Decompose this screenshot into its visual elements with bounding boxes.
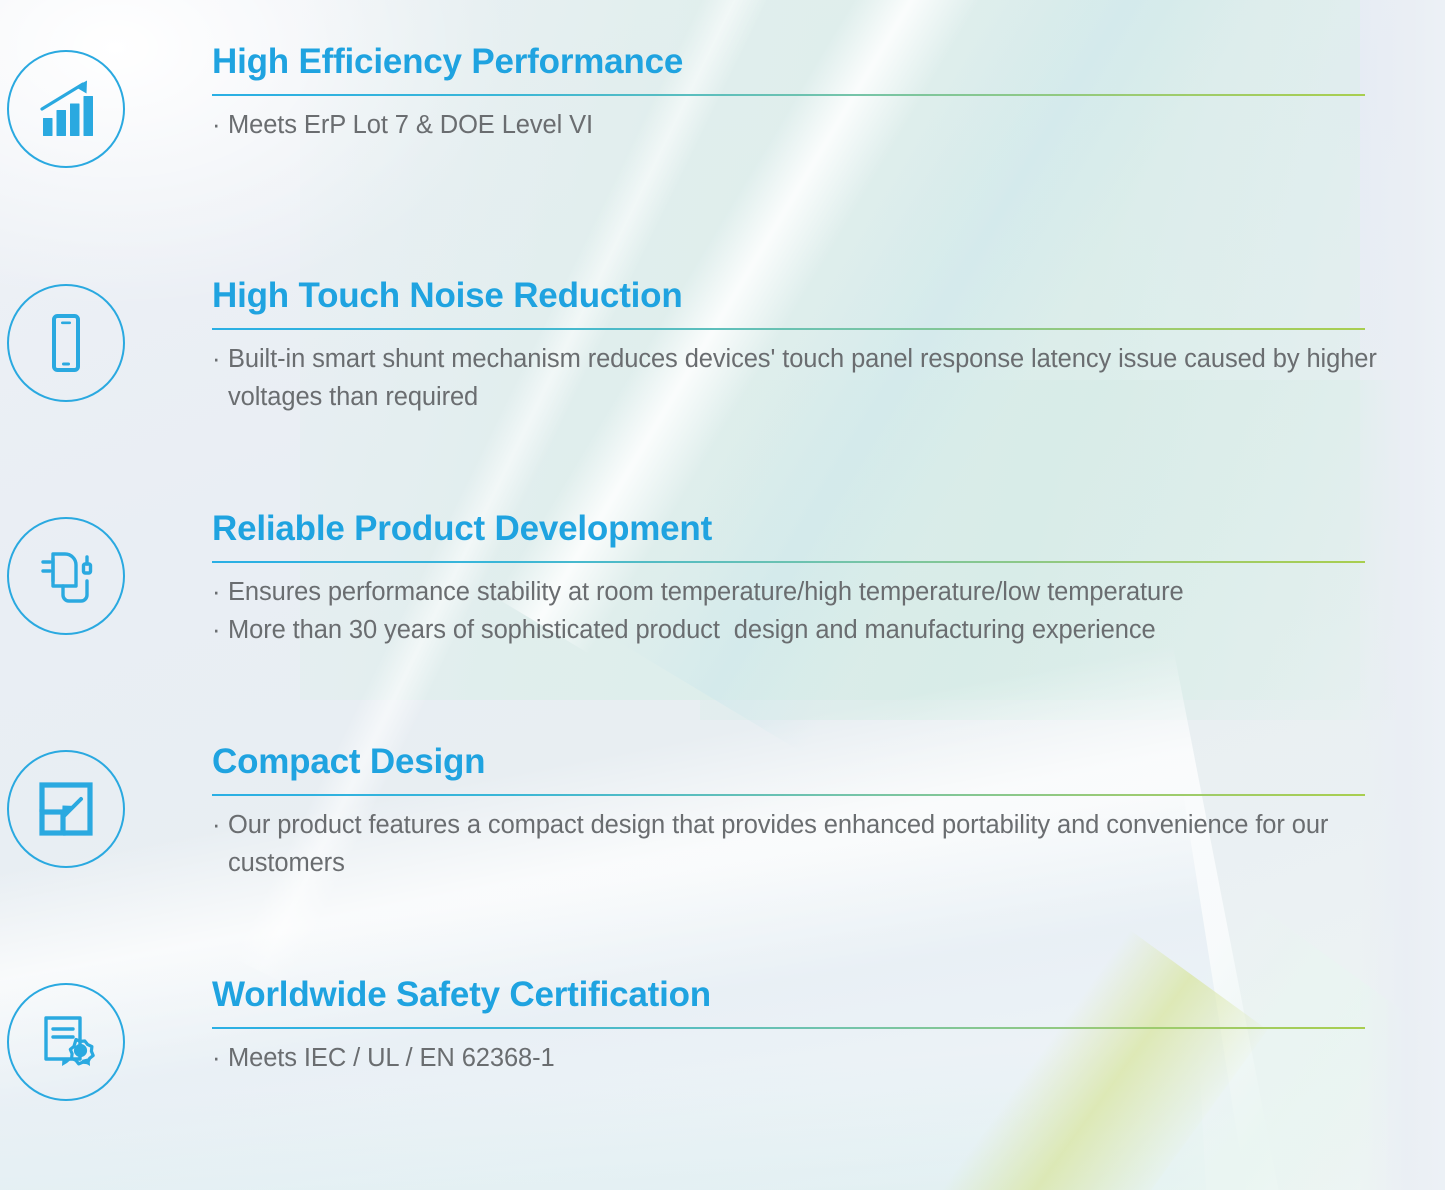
- feature-body: High Efficiency Performance · Meets ErP …: [132, 44, 1445, 145]
- feature-bullets: · Our product features a compact design …: [212, 807, 1445, 882]
- feature-icon-wrap: [0, 511, 132, 635]
- bullet-marker: ·: [212, 341, 228, 379]
- bullet-marker: ·: [212, 807, 228, 845]
- bullet-marker: ·: [212, 574, 228, 612]
- bar-chart-growth-icon: [7, 50, 125, 168]
- bullet-item: · Meets ErP Lot 7 & DOE Level VI: [212, 107, 1445, 145]
- feature-icon-wrap: [0, 44, 132, 168]
- bullet-marker: ·: [212, 107, 228, 145]
- feature-item-reliable-product-development: Reliable Product Development · Ensures p…: [0, 511, 1445, 650]
- bullet-item: · More than 30 years of sophisticated pr…: [212, 612, 1445, 650]
- bullet-text: Built-in smart shunt mechanism reduces d…: [228, 341, 1445, 416]
- bullet-item: · Ensures performance stability at room …: [212, 574, 1445, 612]
- bullet-item: · Built-in smart shunt mechanism reduces…: [212, 341, 1445, 416]
- bullet-marker: ·: [212, 612, 228, 650]
- feature-body: High Touch Noise Reduction · Built-in sm…: [132, 278, 1445, 417]
- feature-body: Reliable Product Development · Ensures p…: [132, 511, 1445, 650]
- bullet-text: Our product features a compact design th…: [228, 807, 1445, 882]
- bullet-item: · Our product features a compact design …: [212, 807, 1445, 882]
- feature-title: High Touch Noise Reduction: [212, 278, 1445, 315]
- feature-highlights-page: High Efficiency Performance · Meets ErP …: [0, 0, 1445, 1190]
- feature-icon-wrap: [0, 278, 132, 402]
- feature-divider: [212, 561, 1365, 564]
- bullet-text: More than 30 years of sophisticated prod…: [228, 612, 1445, 650]
- feature-bullets: · Meets IEC / UL / EN 62368-1: [212, 1040, 1445, 1078]
- bullet-text: Ensures performance stability at room te…: [228, 574, 1445, 612]
- feature-title: Compact Design: [212, 744, 1445, 781]
- bullet-marker: ·: [212, 1040, 228, 1078]
- feature-item-worldwide-safety-certification: Worldwide Safety Certification · Meets I…: [0, 977, 1445, 1101]
- feature-icon-wrap: [0, 744, 132, 868]
- feature-title: Reliable Product Development: [212, 511, 1445, 548]
- feature-icon-wrap: [0, 977, 132, 1101]
- feature-divider: [212, 328, 1365, 331]
- bullet-text: Meets IEC / UL / EN 62368-1: [228, 1040, 1445, 1078]
- feature-bullets: · Built-in smart shunt mechanism reduces…: [212, 341, 1445, 416]
- certificate-award-icon: [7, 983, 125, 1101]
- feature-bullets: · Meets ErP Lot 7 & DOE Level VI: [212, 107, 1445, 145]
- feature-body: Compact Design · Our product features a …: [132, 744, 1445, 883]
- feature-title: Worldwide Safety Certification: [212, 977, 1445, 1014]
- feature-item-high-touch-noise-reduction: High Touch Noise Reduction · Built-in sm…: [0, 278, 1445, 417]
- feature-bullets: · Ensures performance stability at room …: [212, 574, 1445, 649]
- smartphone-icon: [7, 284, 125, 402]
- feature-item-compact-design: Compact Design · Our product features a …: [0, 744, 1445, 883]
- feature-divider: [212, 1027, 1365, 1030]
- feature-item-high-efficiency-performance: High Efficiency Performance · Meets ErP …: [0, 44, 1445, 168]
- feature-title: High Efficiency Performance: [212, 44, 1445, 81]
- bullet-item: · Meets IEC / UL / EN 62368-1: [212, 1040, 1445, 1078]
- feature-divider: [212, 794, 1365, 797]
- compact-resize-icon: [7, 750, 125, 868]
- feature-divider: [212, 94, 1365, 97]
- feature-body: Worldwide Safety Certification · Meets I…: [132, 977, 1445, 1078]
- bullet-text: Meets ErP Lot 7 & DOE Level VI: [228, 107, 1445, 145]
- power-adapter-icon: [7, 517, 125, 635]
